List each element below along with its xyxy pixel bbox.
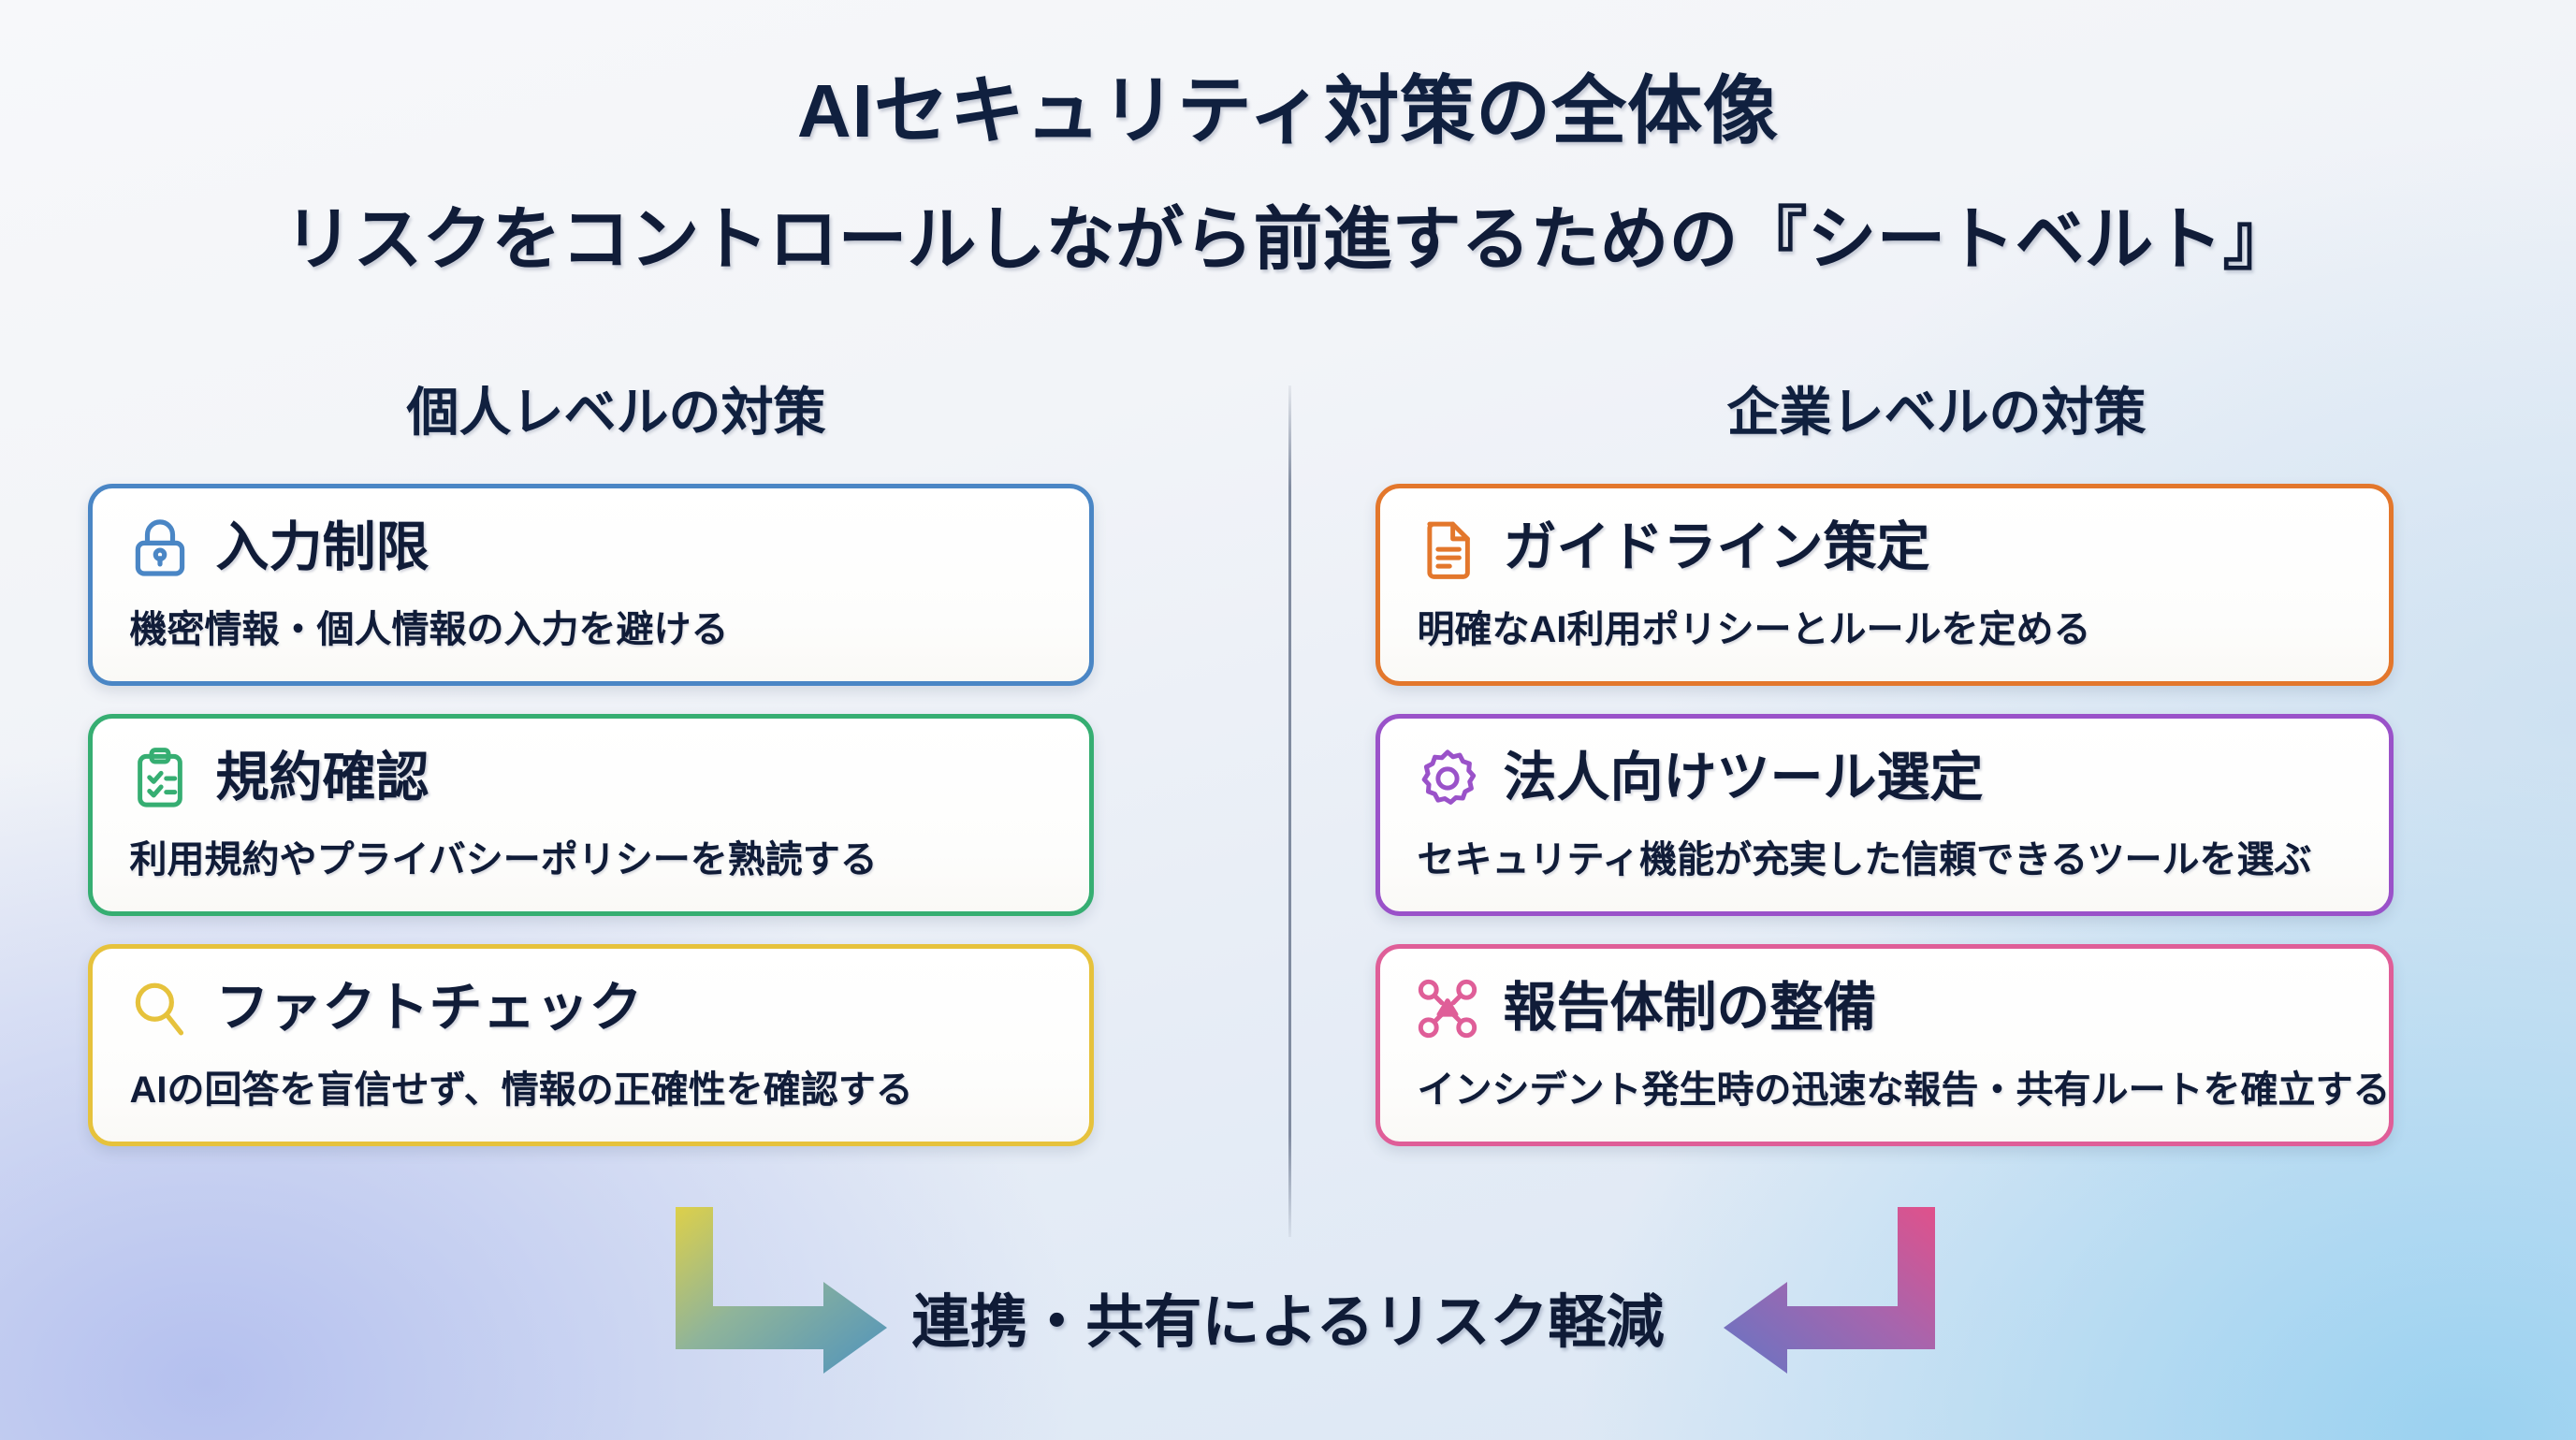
card-header-row: 報告体制の整備 bbox=[1412, 973, 2357, 1044]
document-icon bbox=[1412, 513, 1483, 584]
card-description: AIの回答を盲信せず、情報の正確性を確認する bbox=[124, 1059, 1057, 1113]
card-reporting-system[interactable]: 報告体制の整備 インシデント発生時の迅速な報告・共有ルートを確立する bbox=[1375, 944, 2394, 1146]
card-header-row: 法人向けツール選定 bbox=[1412, 743, 2357, 814]
column-personal-heading: 個人レベルの対策 bbox=[88, 371, 1201, 446]
card-fact-check[interactable]: ファクトチェック AIの回答を盲信せず、情報の正確性を確認する bbox=[88, 944, 1094, 1146]
card-title: ファクトチェック bbox=[216, 981, 643, 1037]
card-description: セキュリティ機能が充実した信頼できるツールを選ぶ bbox=[1412, 829, 2357, 883]
footer-summary-text: 連携・共有によるリスク軽減 bbox=[0, 1274, 2576, 1359]
gear-icon bbox=[1412, 743, 1483, 814]
card-header-row: ファクトチェック bbox=[124, 973, 1057, 1044]
card-guideline[interactable]: ガイドライン策定 明確なAI利用ポリシーとルールを定める bbox=[1375, 484, 2394, 686]
card-tool-selection[interactable]: 法人向けツール選定 セキュリティ機能が充実した信頼できるツールを選ぶ bbox=[1375, 714, 2394, 916]
card-header-row: ガイドライン策定 bbox=[1412, 513, 2357, 584]
page-title: AIセキュリティ対策の全体像 bbox=[0, 51, 2576, 159]
page-subtitle: リスクをコントロールしながら前進するための『シートベルト』 bbox=[0, 183, 2576, 284]
header: AIセキュリティ対策の全体像 リスクをコントロールしながら前進するための『シート… bbox=[0, 0, 2576, 284]
card-title: ガイドライン策定 bbox=[1504, 520, 1930, 576]
card-title: 入力制限 bbox=[216, 520, 429, 576]
column-personal: 個人レベルの対策 入力制限 機密情報・個人情報の入力を避ける bbox=[88, 371, 1201, 1174]
card-description: 明確なAI利用ポリシーとルールを定める bbox=[1412, 599, 2357, 653]
card-input-restriction[interactable]: 入力制限 機密情報・個人情報の入力を避ける bbox=[88, 484, 1094, 686]
card-terms-check[interactable]: 規約確認 利用規約やプライバシーポリシーを熟読する bbox=[88, 714, 1094, 916]
network-hub-icon bbox=[1412, 973, 1483, 1044]
card-header-row: 規約確認 bbox=[124, 743, 1057, 814]
columns-container: 個人レベルの対策 入力制限 機密情報・個人情報の入力を避ける bbox=[0, 371, 2576, 1174]
slide-canvas: AIセキュリティ対策の全体像 リスクをコントロールしながら前進するための『シート… bbox=[0, 0, 2576, 1440]
column-enterprise-heading: 企業レベルの対策 bbox=[1375, 371, 2489, 446]
lock-icon bbox=[124, 513, 196, 584]
card-description: 機密情報・個人情報の入力を避ける bbox=[124, 599, 1057, 653]
card-title: 法人向けツール選定 bbox=[1504, 750, 1984, 807]
column-enterprise: 企業レベルの対策 ガイドライン策定 明確なAI利用ポリシーとルール bbox=[1375, 371, 2489, 1174]
card-title: 報告体制の整備 bbox=[1504, 981, 1877, 1037]
clipboard-check-icon bbox=[124, 743, 196, 814]
card-description: 利用規約やプライバシーポリシーを熟読する bbox=[124, 829, 1057, 883]
card-description: インシデント発生時の迅速な報告・共有ルートを確立する bbox=[1412, 1059, 2357, 1113]
magnifier-icon bbox=[124, 973, 196, 1044]
card-title: 規約確認 bbox=[216, 750, 429, 807]
card-header-row: 入力制限 bbox=[124, 513, 1057, 584]
